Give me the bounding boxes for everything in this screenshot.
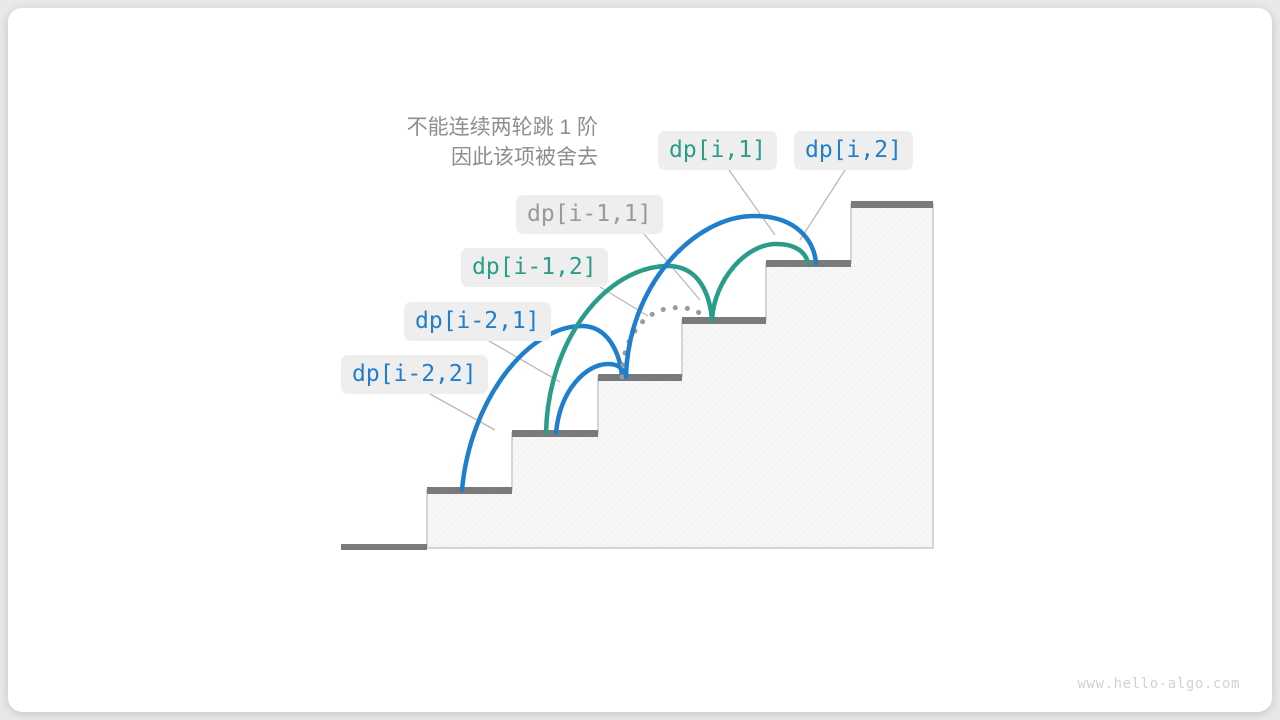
label-dp-i-2-1: dp[i-2,1] xyxy=(404,302,551,341)
label-dp-i-2: dp[i,2] xyxy=(794,131,913,170)
watermark: www.hello-algo.com xyxy=(1077,676,1240,692)
label-dp-i-1: dp[i,1] xyxy=(658,131,777,170)
step-edge-4 xyxy=(682,317,766,324)
label-dp-i-1-2: dp[i-1,2] xyxy=(461,248,608,287)
step-edge-3 xyxy=(598,374,682,381)
staircase-diagram xyxy=(8,8,1272,712)
label-dp-i-1-1: dp[i-1,1] xyxy=(516,195,663,234)
label-dp-i-2-2: dp[i-2,2] xyxy=(341,355,488,394)
step-edge-6 xyxy=(851,201,933,208)
step-edge-1 xyxy=(427,487,512,494)
ground-line xyxy=(341,544,427,550)
figure-card: 不能连续两轮跳 1 阶 因此该项被舍去 dp[i-2,2] dp[i-2,1] … xyxy=(8,8,1272,712)
rejection-note: 不能连续两轮跳 1 阶 因此该项被舍去 xyxy=(308,113,598,173)
figure-page: 不能连续两轮跳 1 阶 因此该项被舍去 dp[i-2,2] dp[i-2,1] … xyxy=(0,0,1280,720)
